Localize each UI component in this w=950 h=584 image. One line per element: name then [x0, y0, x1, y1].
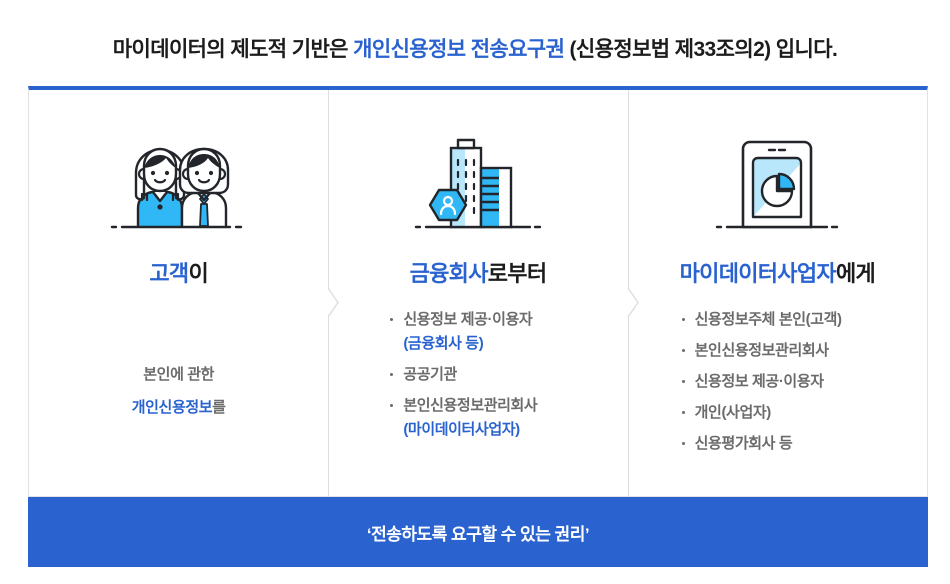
list-item-main: 신용정보 제공·이용자 — [695, 373, 824, 390]
column-heading-financial: 금융회사로부터 — [328, 256, 627, 288]
bottom-banner-text: ‘전송하도록 요구할 수 있는 권리’ — [367, 520, 589, 545]
page-title-suffix: (신용정보법 제33조의2) 입니다. — [564, 38, 837, 61]
column-heading-accent: 마이데이터사업자 — [680, 261, 836, 286]
lead-line-1-plain: 본인에 관한 — [143, 366, 214, 383]
page-title-prefix: 마이데이터의 제도적 기반은 — [113, 38, 353, 61]
column-heading-accent: 금융회사 — [410, 261, 488, 286]
list-item: 신용정보 제공·이용자 (금융회사 등) — [390, 308, 627, 356]
lead-line-1: 본인에 관한 — [29, 358, 328, 391]
list-item: 신용정보주체 본인(고객) — [682, 308, 927, 332]
column-heading-accent: 고객 — [149, 261, 188, 286]
list-item-main: 본인신용정보관리회사 — [695, 342, 829, 359]
lead-line-2-accent: 개인신용정보 — [132, 399, 212, 416]
column-mydata-operator: 마이데이터사업자에게 신용정보주체 본인(고객) 본인신용정보관리회사 신용정보… — [628, 90, 927, 496]
column-customer: 고객이 본인에 관한 개인신용정보를 — [29, 90, 328, 496]
list-item-sub: (마이데이터사업자) — [403, 418, 627, 442]
mydata-recipient-list: 신용정보주체 본인(고객) 본인신용정보관리회사 신용정보 제공·이용자 개인(… — [628, 308, 927, 463]
financial-provider-list: 신용정보 제공·이용자 (금융회사 등) 공공기관 본인신용정보관리회사 (마이… — [328, 308, 627, 449]
lead-line-2-plain: 를 — [212, 399, 225, 416]
list-item-main: 개인(사업자) — [695, 404, 771, 421]
list-item: 공공기관 — [390, 363, 627, 387]
list-item-main: 공공기관 — [403, 366, 457, 383]
lead-line-2: 개인신용정보를 — [29, 391, 328, 424]
column-heading-mydata: 마이데이터사업자에게 — [628, 256, 927, 288]
list-item: 개인(사업자) — [682, 401, 927, 425]
list-item: 신용정보 제공·이용자 — [682, 370, 927, 394]
buildings-person-badge-icon — [328, 120, 627, 230]
list-item: 신용평가회사 등 — [682, 432, 927, 456]
column-heading-plain: 이 — [188, 261, 208, 286]
column-heading-plain: 로부터 — [488, 261, 547, 286]
column-heading-plain: 에게 — [836, 261, 875, 286]
column-heading-customer: 고객이 — [29, 256, 328, 288]
tablet-pie-chart-icon — [628, 120, 927, 230]
page-title-accent: 개인신용정보 전송요구권 — [353, 38, 564, 61]
bottom-banner: ‘전송하도록 요구할 수 있는 권리’ — [28, 497, 928, 567]
column-financial-company: 금융회사로부터 신용정보 제공·이용자 (금융회사 등) 공공기관 본인신용정보… — [328, 90, 627, 496]
list-item-main: 신용평가회사 등 — [695, 435, 793, 452]
customer-lead-text: 본인에 관한 개인신용정보를 — [29, 358, 328, 424]
diagram-card: 고객이 본인에 관한 개인신용정보를 — [28, 86, 928, 497]
list-item: 본인신용정보관리회사 — [682, 339, 927, 363]
list-item-main: 본인신용정보관리회사 — [403, 397, 537, 414]
diagram-columns: 고객이 본인에 관한 개인신용정보를 — [29, 90, 927, 496]
list-item-main: 신용정보주체 본인(고객) — [695, 311, 842, 328]
list-item: 본인신용정보관리회사 (마이데이터사업자) — [390, 394, 627, 442]
page-title: 마이데이터의 제도적 기반은 개인신용정보 전송요구권 (신용정보법 제33조의… — [0, 33, 950, 63]
two-people-icon — [29, 120, 328, 230]
list-item-main: 신용정보 제공·이용자 — [403, 311, 532, 328]
list-item-sub: (금융회사 등) — [403, 332, 627, 356]
